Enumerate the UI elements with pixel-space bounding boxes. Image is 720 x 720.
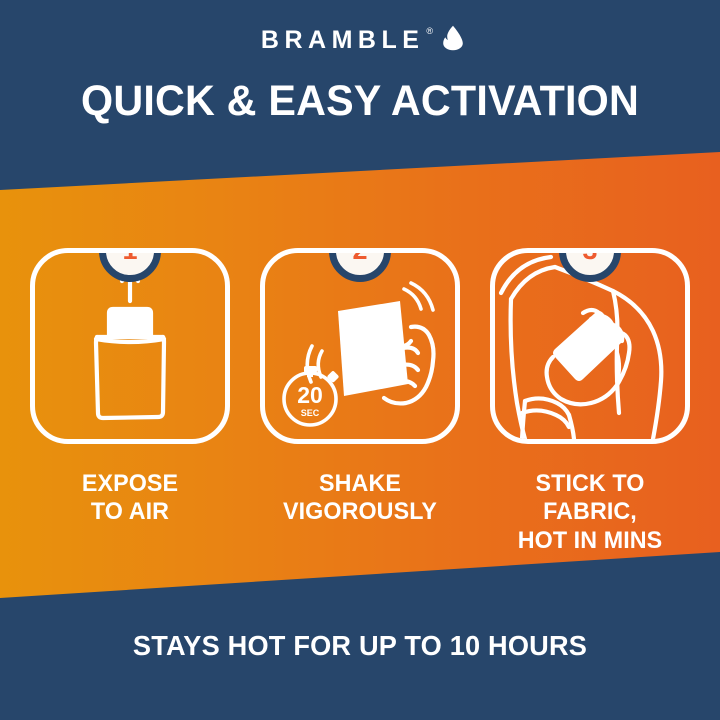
flame-icon	[442, 25, 464, 56]
step-2-card: 2	[260, 248, 460, 444]
stopwatch-unit: SEC	[301, 408, 320, 418]
steps-container: 1 EXPOSE	[30, 248, 690, 555]
stopwatch-icon: 20 SEC	[284, 366, 339, 425]
step-3-card: 3	[490, 248, 690, 444]
step-2-number: 2	[352, 248, 367, 264]
step-3-number: 3	[582, 248, 597, 264]
step-1-number: 1	[122, 248, 137, 264]
step-1-card: 1	[30, 248, 230, 444]
brand-name: BRAMBLE	[256, 28, 425, 53]
step-1-caption: EXPOSE TO AIR	[35, 470, 225, 527]
step-item: 1 EXPOSE	[30, 248, 230, 555]
registered-trademark-symbol: ®	[426, 27, 433, 36]
page-headline: QUICK & EASY ACTIVATION	[14, 79, 705, 124]
step-3-caption: STICK TO FABRIC, HOT IN MINS	[495, 470, 685, 555]
stopwatch-value: 20	[297, 382, 323, 408]
brand-logo: BRAMBLE ®	[0, 25, 720, 56]
infographic-poster: BRAMBLE ® QUICK & EASY ACTIVATION 1	[0, 0, 720, 720]
step-item: 2	[260, 248, 460, 555]
step-2-caption: SHAKE VIGOROUSLY	[265, 470, 455, 527]
footer-tagline: STAYS HOT FOR UP TO 10 HOURS	[11, 632, 709, 660]
step-item: 3	[490, 248, 690, 555]
